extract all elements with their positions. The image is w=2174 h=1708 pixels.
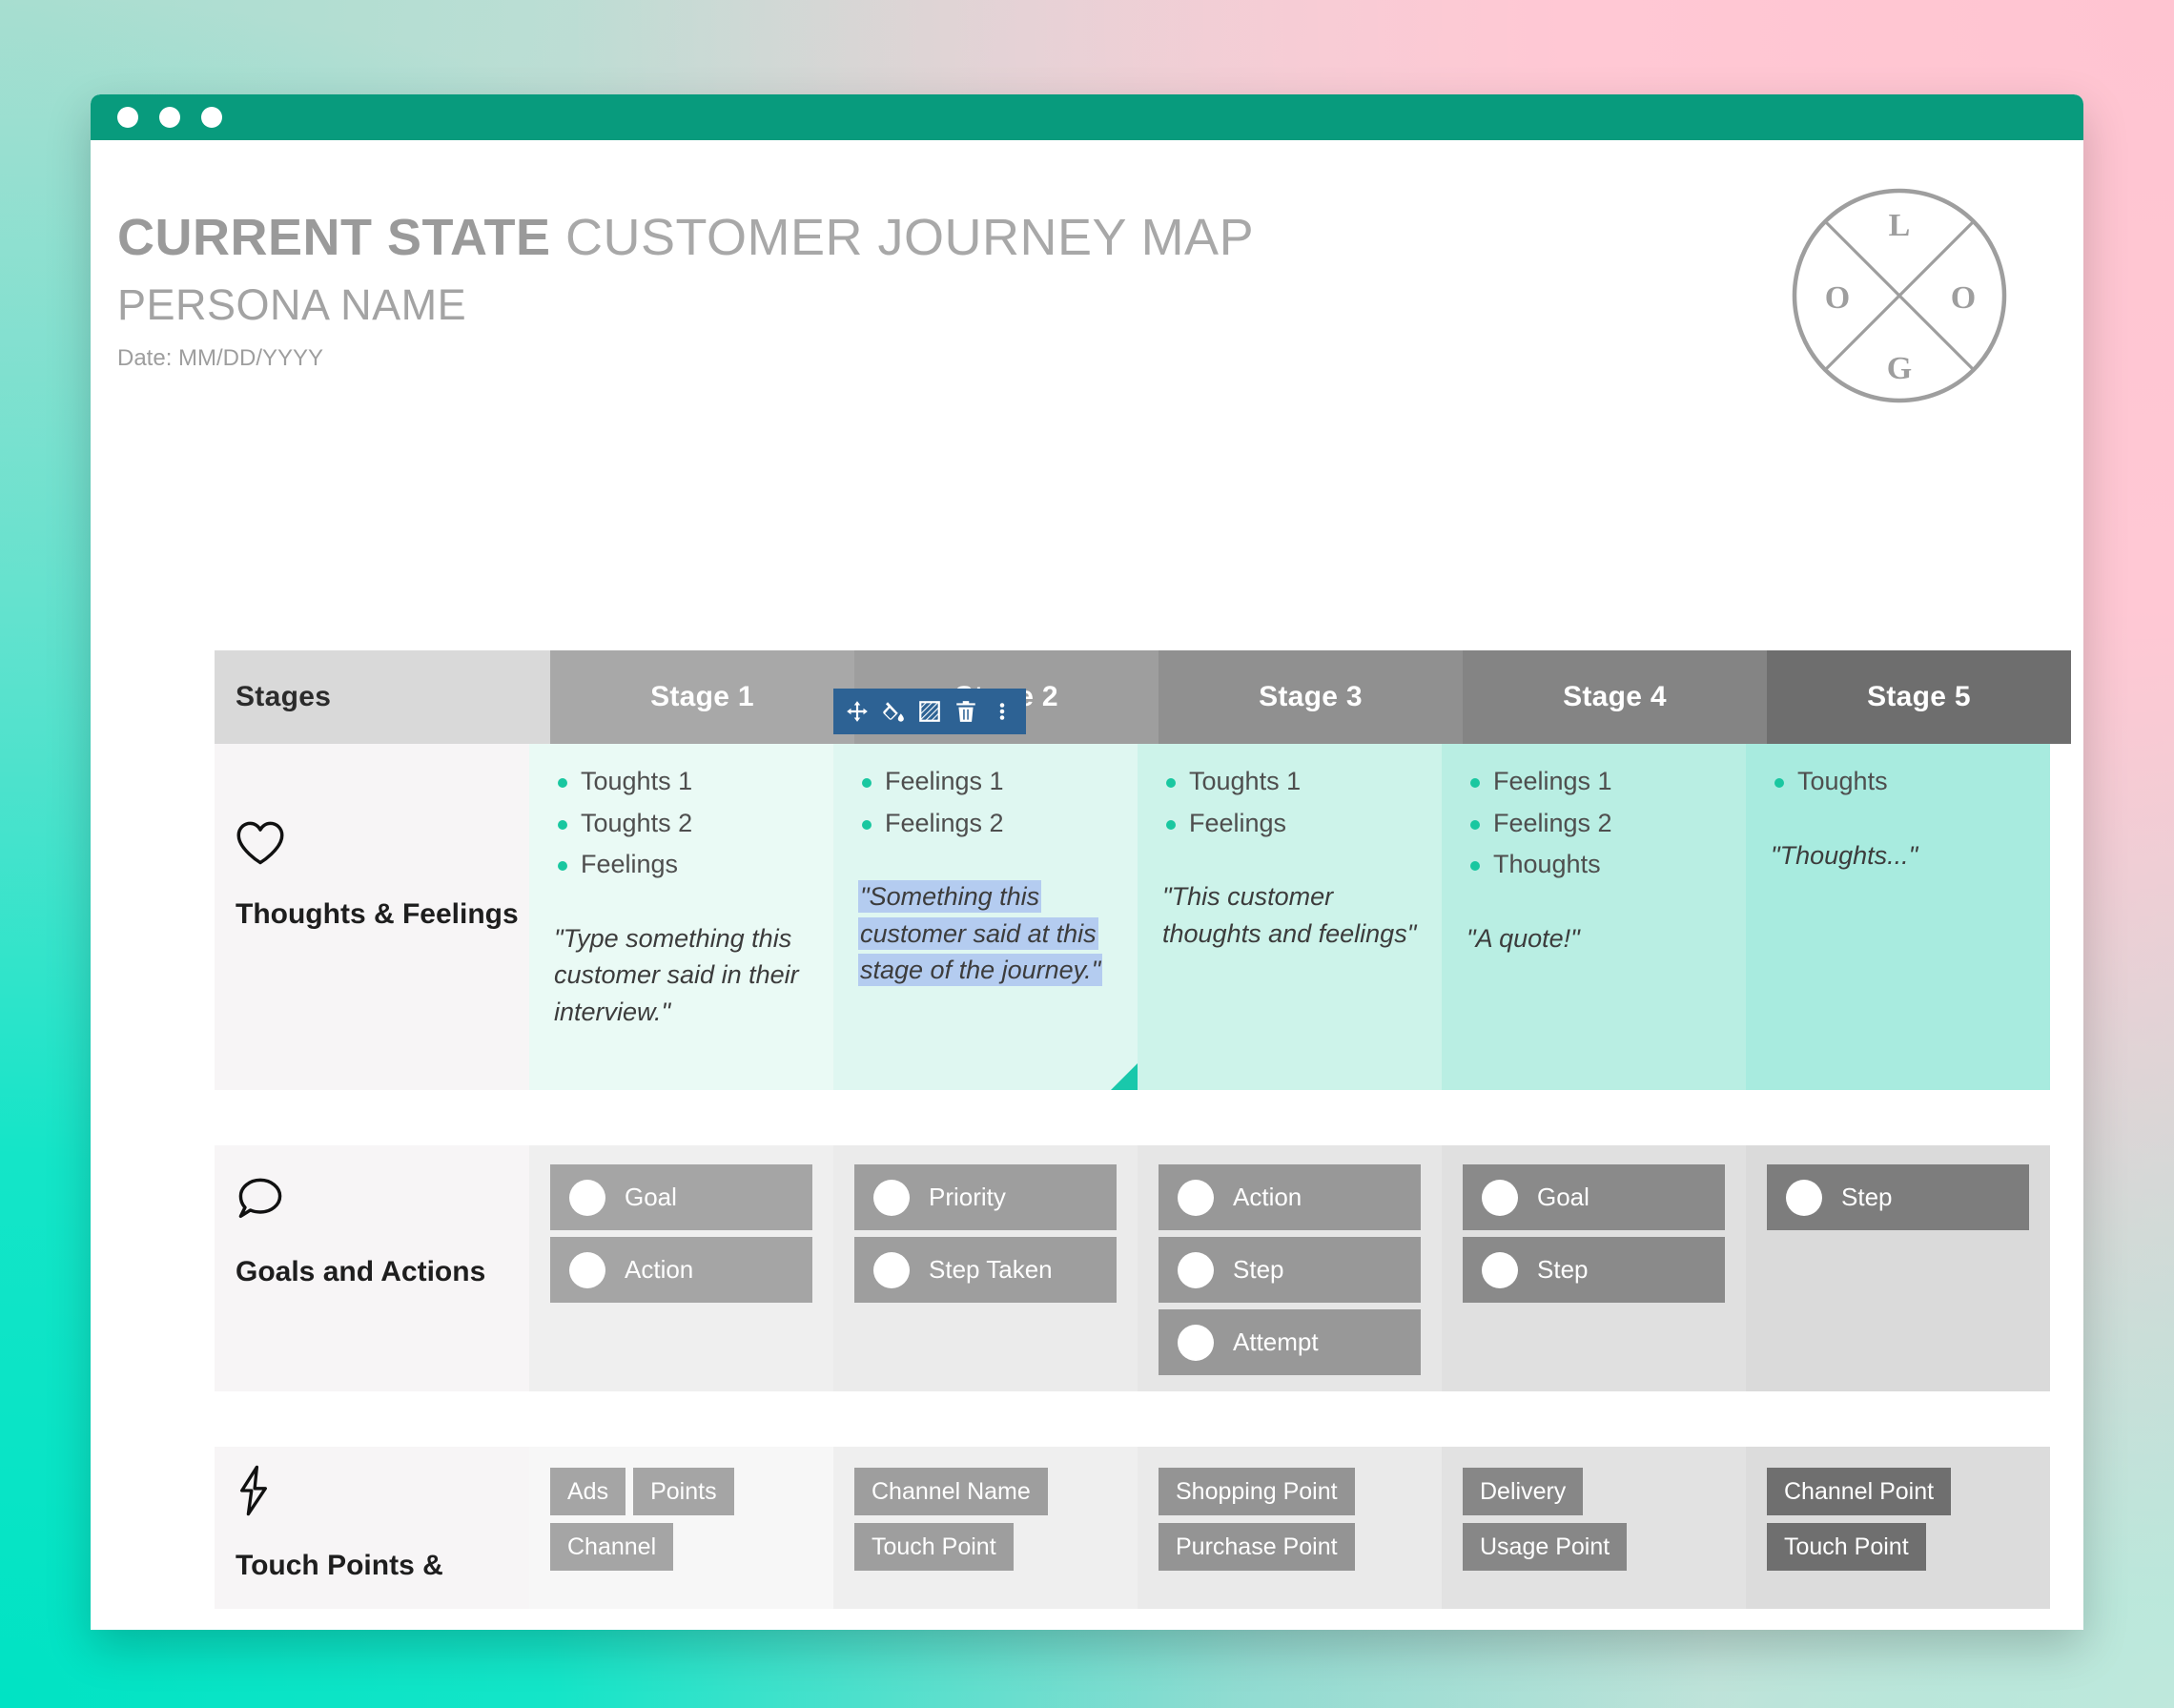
document-date: Date: MM/DD/YYYY [117, 345, 2083, 372]
touch-point-tag[interactable]: Shopping Point [1159, 1468, 1355, 1515]
chip-bullet-icon [873, 1252, 910, 1288]
list-item: Feelings 1 [1466, 765, 1721, 799]
touch-point-tag[interactable]: Channel Point [1767, 1468, 1951, 1515]
chip-bullet-icon [1482, 1252, 1518, 1288]
chip-bullet-icon [1786, 1180, 1822, 1216]
goals-cell-stage-4[interactable]: GoalStep [1442, 1145, 1746, 1391]
logo-letter-left: O [1825, 280, 1850, 316]
window-dot-close[interactable] [117, 107, 138, 128]
thoughts-cell-stage-3[interactable]: Toughts 1Feelings"This customer thoughts… [1138, 744, 1442, 1090]
touchpoints-cell-stage-2[interactable]: Channel NameTouch Point [833, 1447, 1138, 1609]
fill-color-button[interactable] [875, 689, 912, 734]
row-label-goals-and-actions: Goals and Actions [215, 1145, 529, 1391]
chip-label: Step [1841, 1183, 1893, 1212]
stage-header-5[interactable]: Stage 5 [1767, 650, 2071, 744]
touch-point-tag[interactable]: Channel Name [854, 1468, 1048, 1515]
row-spacer-2 [215, 1391, 2050, 1447]
customer-quote[interactable]: "Thoughts..." [1771, 837, 2025, 874]
window-dot-minimize[interactable] [159, 107, 180, 128]
selected-text-highlight[interactable]: "Something this customer said at this st… [858, 880, 1102, 986]
window-dot-maximize[interactable] [201, 107, 222, 128]
thoughts-cell-stage-2[interactable]: Feelings 1Feelings 2"Something this cust… [833, 744, 1138, 1090]
customer-quote[interactable]: "This customer thoughts and feelings" [1162, 878, 1417, 952]
logo-letter-bottom: G [1887, 351, 1912, 386]
list-item: Feelings 2 [1466, 807, 1721, 841]
more-options-icon [990, 699, 1015, 724]
bullet-list: Toughts 1Toughts 2Feelings [554, 765, 809, 882]
browser-window: CURRENT STATE CUSTOMER JOURNEY MAP PERSO… [91, 94, 2083, 1630]
touch-point-tag[interactable]: Touch Point [854, 1523, 1014, 1571]
logo-letter-top: L [1889, 208, 1911, 243]
thoughts-cell-stage-5[interactable]: Toughts"Thoughts..." [1746, 744, 2050, 1090]
chip-bullet-icon [569, 1180, 605, 1216]
touch-point-tag[interactable]: Points [633, 1468, 733, 1515]
list-item: Toughts 1 [554, 765, 809, 799]
touch-point-tag[interactable]: Purchase Point [1159, 1523, 1355, 1571]
chip-label: Step [1537, 1255, 1589, 1285]
pattern-fill-icon [917, 699, 942, 724]
selection-toolbar[interactable] [833, 689, 1026, 734]
list-item: Toughts 1 [1162, 765, 1417, 799]
thoughts-cell-stage-4[interactable]: Feelings 1Feelings 2Thoughts"A quote!" [1442, 744, 1746, 1090]
touchpoints-cell-stage-5[interactable]: Channel PointTouch Point [1746, 1447, 2050, 1609]
move-button[interactable] [839, 689, 875, 734]
thoughts-cell-stage-1[interactable]: Toughts 1Toughts 2Feelings"Type somethin… [529, 744, 833, 1090]
goals-cell-stage-1[interactable]: GoalAction [529, 1145, 833, 1391]
row-touch-points: Touch Points &AdsPointsChannelChannel Na… [215, 1447, 2050, 1609]
heart-icon [236, 820, 285, 866]
touchpoints-cell-stage-3[interactable]: Shopping PointPurchase Point [1138, 1447, 1442, 1609]
goal-action-chip[interactable]: Action [1159, 1164, 1421, 1230]
chip-bullet-icon [1178, 1180, 1214, 1216]
bullet-list: Feelings 1Feelings 2Thoughts [1466, 765, 1721, 882]
journey-map-grid: StagesStage 1Stage 2Stage 3Stage 4Stage … [215, 650, 2050, 1609]
goals-cell-stage-3[interactable]: ActionStepAttempt [1138, 1145, 1442, 1391]
stage-header-3[interactable]: Stage 3 [1159, 650, 1463, 744]
chip-label: Action [625, 1255, 693, 1285]
chip-bullet-icon [873, 1180, 910, 1216]
persona-name: PERSONA NAME [117, 280, 2083, 330]
row-label-thoughts-and-feelings: Thoughts & Feelings [215, 744, 529, 1090]
delete-icon [954, 699, 978, 724]
touch-point-tag[interactable]: Delivery [1463, 1468, 1583, 1515]
chip-bullet-icon [1178, 1325, 1214, 1361]
list-item: Feelings [1162, 807, 1417, 841]
list-item: Thoughts [1466, 848, 1721, 882]
bullet-list: Toughts [1771, 765, 2025, 799]
more-options-button[interactable] [984, 689, 1020, 734]
row-label-text: Touch Points & [236, 1548, 529, 1584]
chip-label: Action [1233, 1183, 1302, 1212]
touch-point-tag[interactable]: Usage Point [1463, 1523, 1627, 1571]
goal-action-chip[interactable]: Step Taken [854, 1237, 1117, 1303]
move-icon [845, 699, 870, 724]
chip-label: Priority [929, 1183, 1006, 1212]
stage-header-row: StagesStage 1Stage 2Stage 3Stage 4Stage … [215, 650, 2050, 744]
customer-quote[interactable]: "A quote!" [1466, 920, 1721, 957]
page-title-bold: CURRENT STATE [117, 209, 550, 266]
chip-label: Step [1233, 1255, 1284, 1285]
row-label-text: Goals and Actions [236, 1254, 529, 1290]
goal-action-chip[interactable]: Step [1463, 1237, 1725, 1303]
chip-label: Goal [1537, 1183, 1589, 1212]
bullet-list: Feelings 1Feelings 2 [858, 765, 1113, 840]
pattern-fill-button[interactable] [912, 689, 948, 734]
chip-label: Goal [625, 1183, 677, 1212]
row-thoughts-and-feelings: Thoughts & FeelingsToughts 1Toughts 2Fee… [215, 744, 2050, 1090]
document-canvas: CURRENT STATE CUSTOMER JOURNEY MAP PERSO… [91, 140, 2083, 1630]
list-item: Toughts [1771, 765, 2025, 799]
goals-cell-stage-5[interactable]: Step [1746, 1145, 2050, 1391]
chip-bullet-icon [1482, 1180, 1518, 1216]
row-goals-and-actions: Goals and ActionsGoalActionPriorityStep … [215, 1145, 2050, 1391]
chip-label: Attempt [1233, 1327, 1319, 1357]
customer-quote[interactable]: "Type something this customer said in th… [554, 920, 809, 1030]
resize-handle[interactable] [1111, 1063, 1138, 1090]
goal-action-chip[interactable]: Priority [854, 1164, 1117, 1230]
bullet-list: Toughts 1Feelings [1162, 765, 1417, 840]
goal-action-chip[interactable]: Step [1159, 1237, 1421, 1303]
list-item: Toughts 2 [554, 807, 809, 841]
row-label-touch-points: Touch Points & [215, 1447, 529, 1609]
page-title: CURRENT STATE CUSTOMER JOURNEY MAP [117, 211, 2083, 265]
document-header: CURRENT STATE CUSTOMER JOURNEY MAP PERSO… [91, 140, 2083, 372]
page-title-light: CUSTOMER JOURNEY MAP [550, 209, 1254, 266]
touch-point-tag[interactable]: Channel [550, 1523, 673, 1571]
chip-label: Step Taken [929, 1255, 1053, 1285]
touch-point-tag[interactable]: Touch Point [1767, 1523, 1926, 1571]
stages-label-header: Stages [215, 650, 550, 744]
window-titlebar [91, 94, 2083, 140]
list-item: Feelings 1 [858, 765, 1113, 799]
logo-letter-right: O [1951, 280, 1976, 316]
goal-action-chip[interactable]: Goal [1463, 1164, 1725, 1230]
bolt-icon [236, 1464, 272, 1517]
stage-header-1[interactable]: Stage 1 [550, 650, 854, 744]
customer-quote[interactable]: "Something this customer said at this st… [858, 878, 1113, 988]
goals-cell-stage-2[interactable]: PriorityStep Taken [833, 1145, 1138, 1391]
stage-header-4[interactable]: Stage 4 [1463, 650, 1767, 744]
row-label-text: Thoughts & Feelings [236, 896, 529, 933]
fill-color-icon [881, 699, 906, 724]
delete-button[interactable] [948, 689, 984, 734]
goal-action-chip[interactable]: Attempt [1159, 1309, 1421, 1375]
touchpoints-cell-stage-1[interactable]: AdsPointsChannel [529, 1447, 833, 1609]
list-item: Feelings [554, 848, 809, 882]
speech-bubble-icon [236, 1176, 285, 1224]
touchpoints-cell-stage-4[interactable]: DeliveryUsage Point [1442, 1447, 1746, 1609]
goal-action-chip[interactable]: Action [550, 1237, 812, 1303]
list-item: Feelings 2 [858, 807, 1113, 841]
touch-point-tag[interactable]: Ads [550, 1468, 626, 1515]
goal-action-chip[interactable]: Goal [550, 1164, 812, 1230]
logo: L O O G [1790, 186, 2009, 405]
chip-bullet-icon [569, 1252, 605, 1288]
row-spacer-1 [215, 1090, 2050, 1145]
chip-bullet-icon [1178, 1252, 1214, 1288]
goal-action-chip[interactable]: Step [1767, 1164, 2029, 1230]
